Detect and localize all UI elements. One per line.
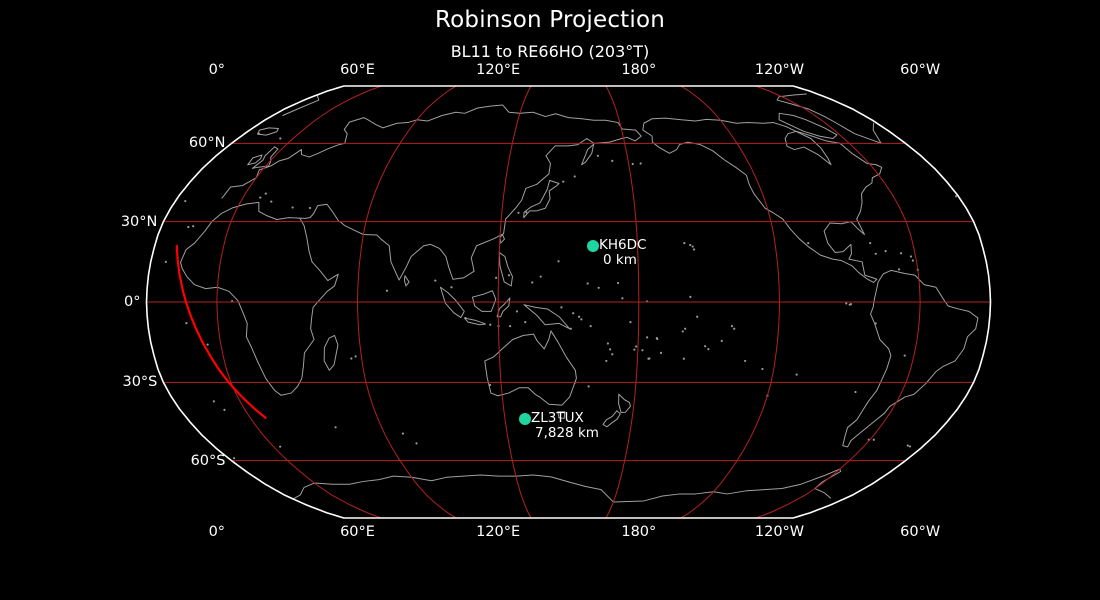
lon-tick-top-2: 180° (621, 62, 656, 78)
station-markers (519, 240, 599, 425)
map-figure: Robinson Projection BL11 to RE66HO (203°… (0, 0, 1100, 600)
station-distance: 7,828 km (535, 426, 599, 441)
lon-tick-top-3: 120°W (755, 62, 804, 78)
station-label-zl3tux: ZL3TUX7,828 km (531, 411, 599, 441)
map-svg (0, 0, 1100, 600)
station-marker-kh6dc[interactable] (587, 240, 599, 252)
graticule-layer (147, 86, 991, 518)
lon-tick-top-4: 60°W (900, 62, 940, 78)
lon-tick-top-5: 0° (209, 62, 225, 78)
station-distance: 0 km (603, 253, 646, 268)
lon-tick-bottom-1: 120°E (476, 524, 520, 540)
station-marker-zl3tux[interactable] (519, 413, 531, 425)
lat-tick-0: 60°N (189, 135, 226, 151)
map-canvas: 60°E60°E120°E120°E180°180°120°W120°W60°W… (0, 0, 1100, 600)
lat-tick-3: 30°S (122, 374, 157, 390)
station-label-kh6dc: KH6DC0 km (599, 238, 646, 268)
lon-tick-bottom-4: 60°W (900, 524, 940, 540)
lon-tick-bottom-0: 60°E (340, 524, 375, 540)
lon-tick-top-1: 120°E (476, 62, 520, 78)
lat-tick-4: 60°S (191, 453, 226, 469)
lon-tick-bottom-2: 180° (621, 524, 656, 540)
lat-tick-2: 0° (124, 294, 140, 310)
lon-tick-bottom-3: 120°W (755, 524, 804, 540)
great-circle-path (177, 245, 266, 418)
station-callsign: KH6DC (599, 238, 646, 253)
lon-tick-top-0: 60°E (340, 62, 375, 78)
lat-tick-1: 30°N (121, 214, 158, 230)
lon-tick-bottom-5: 0° (209, 524, 225, 540)
station-callsign: ZL3TUX (531, 411, 599, 426)
